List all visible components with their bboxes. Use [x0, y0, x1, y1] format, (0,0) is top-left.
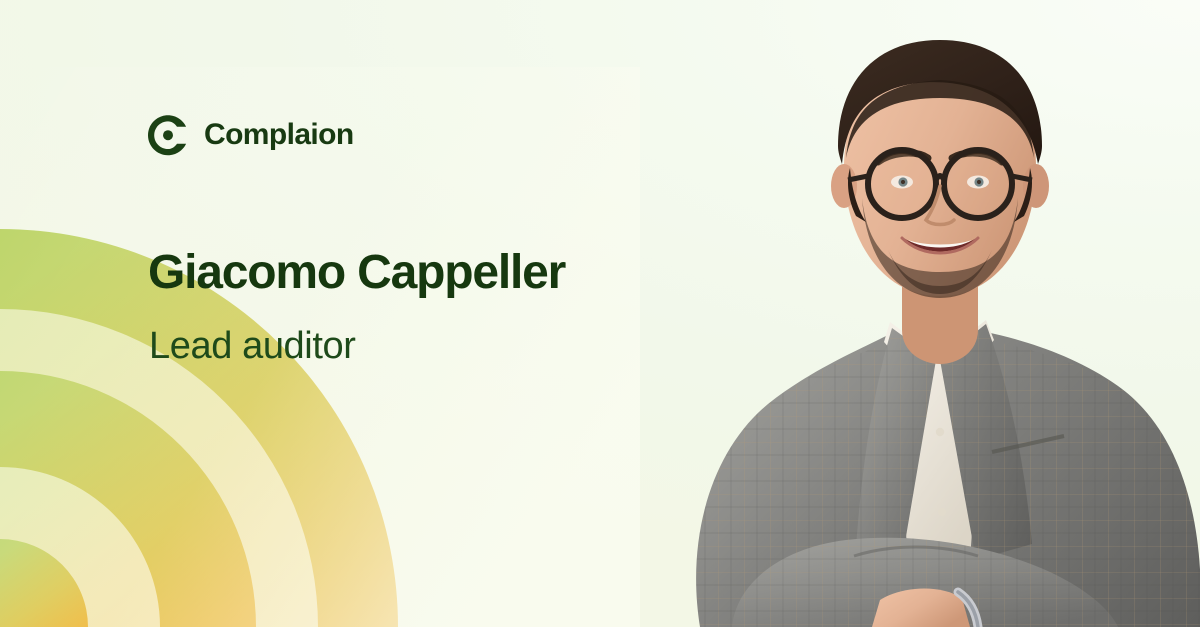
eyeglasses-icon: [848, 150, 1032, 218]
head: [831, 40, 1049, 298]
speaker-banner: Complaion Giacomo Cappeller Lead auditor: [0, 0, 1200, 627]
person-name: Giacomo Cappeller: [148, 247, 565, 300]
bracelet: [958, 592, 978, 627]
blazer-lapels: [856, 324, 1064, 560]
complaion-c-mark-icon: [146, 113, 190, 157]
blazer: [696, 332, 1200, 627]
crossed-arms: [732, 538, 1118, 627]
brand-logo-lockup[interactable]: Complaion: [146, 113, 354, 157]
arc-ring-2: [0, 467, 160, 627]
arc-ring-1: [0, 539, 88, 627]
speaker-portrait: [640, 0, 1200, 627]
brand-wordmark: Complaion: [204, 120, 354, 150]
dress-shirt: [884, 320, 994, 560]
person-role: Lead auditor: [149, 326, 355, 368]
arc-ring-3: [0, 371, 256, 627]
